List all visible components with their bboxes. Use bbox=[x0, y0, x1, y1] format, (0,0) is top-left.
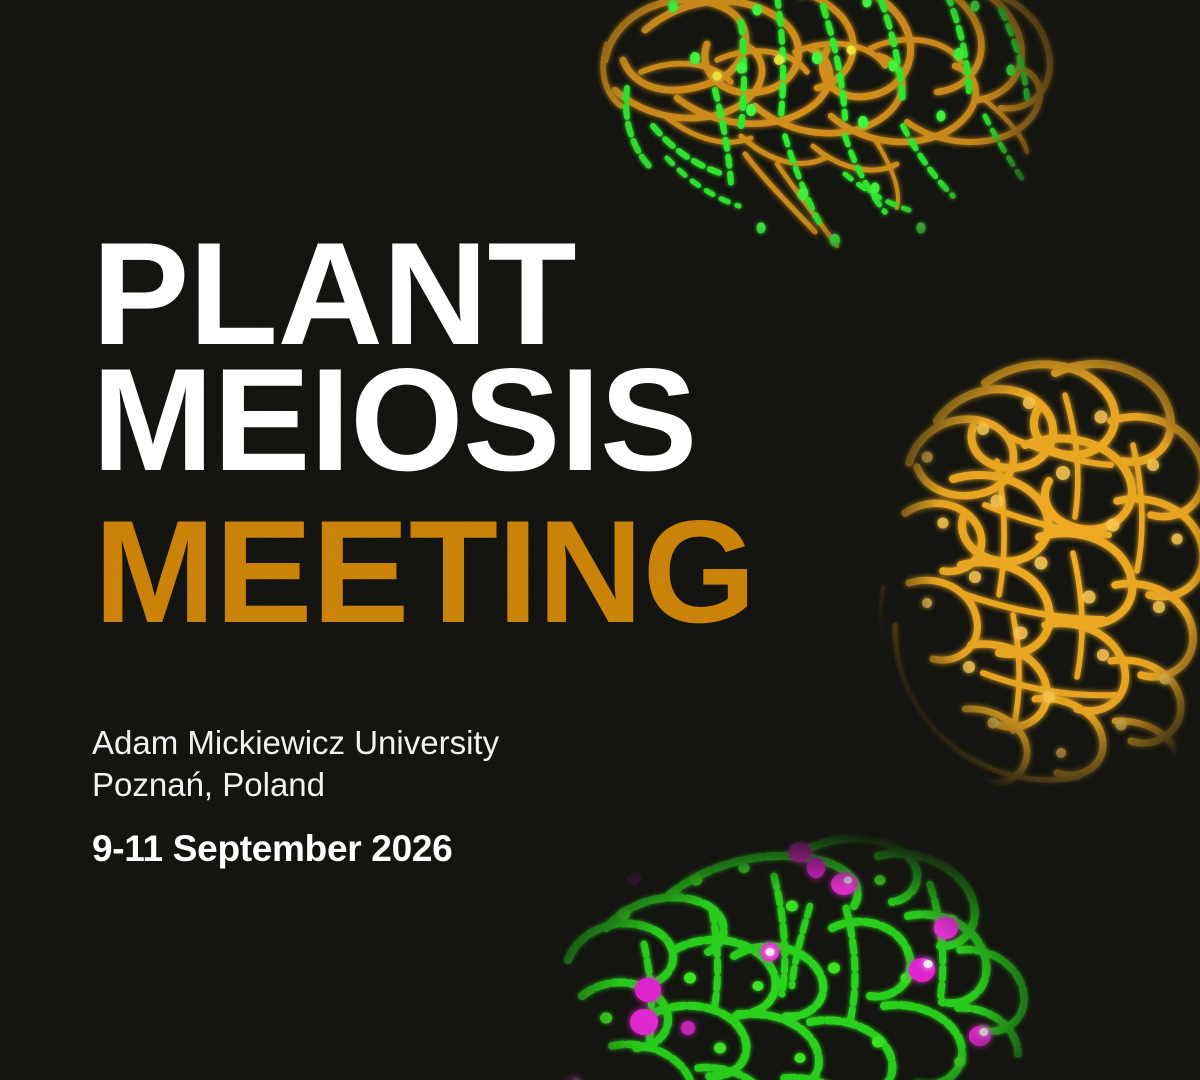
venue-location: Poznań, Poland bbox=[92, 764, 499, 806]
meiotic-chromosome-spread-bottom-image bbox=[548, 810, 1048, 1080]
conference-poster: PLANT MEIOSIS MEETING Adam Mickiewicz Un… bbox=[0, 0, 1200, 1080]
meiotic-chromosome-spread-middle-image bbox=[865, 325, 1200, 795]
venue-institution: Adam Mickiewicz University bbox=[92, 722, 499, 764]
page-title-line-meiosis: MEIOSIS bbox=[92, 348, 697, 491]
meiotic-chromosome-spread-top-image bbox=[545, 0, 1065, 310]
event-date: 9-11 September 2026 bbox=[92, 828, 452, 870]
page-title-line-meeting: MEETING bbox=[94, 500, 756, 643]
venue-block: Adam Mickiewicz University Poznań, Polan… bbox=[92, 722, 499, 805]
